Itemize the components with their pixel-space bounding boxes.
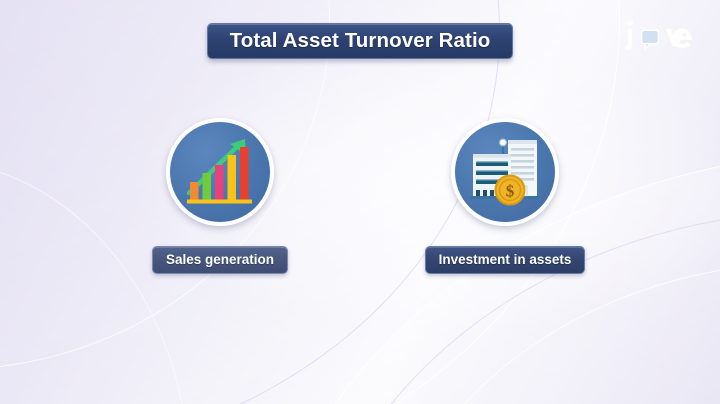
background-swoosh-7: [370, 262, 720, 404]
bar-3: [215, 165, 224, 200]
page-title-text: Total Asset Turnover Ratio: [230, 29, 491, 53]
investment-in-assets-label: Investment in assets: [425, 246, 586, 274]
buildings-with-coin-icon: $: [461, 128, 549, 216]
concept-sales-generation: Sales generation: [130, 118, 310, 274]
slide-canvas: Total Asset Turnover Ratio Sales generat…: [0, 0, 720, 404]
investment-in-assets-icon-circle: $: [451, 118, 559, 226]
bar-4: [228, 155, 237, 200]
jove-logo: [624, 18, 698, 52]
speech-bubble-icon: [642, 30, 659, 49]
sales-generation-icon-circle: [166, 118, 274, 226]
antenna-icon: [500, 139, 507, 154]
chart-baseline: [187, 200, 252, 204]
concept-investment-in-assets: $ Investment in assets: [415, 118, 595, 274]
dollar-coin-icon: $: [496, 176, 525, 205]
svg-text:$: $: [506, 182, 515, 201]
sales-generation-label: Sales generation: [152, 246, 288, 274]
bar-5: [240, 147, 249, 200]
page-title: Total Asset Turnover Ratio: [207, 23, 513, 59]
bar-2: [203, 173, 212, 200]
bar-1: [190, 182, 199, 200]
bar-chart-growth-icon: [176, 128, 264, 216]
